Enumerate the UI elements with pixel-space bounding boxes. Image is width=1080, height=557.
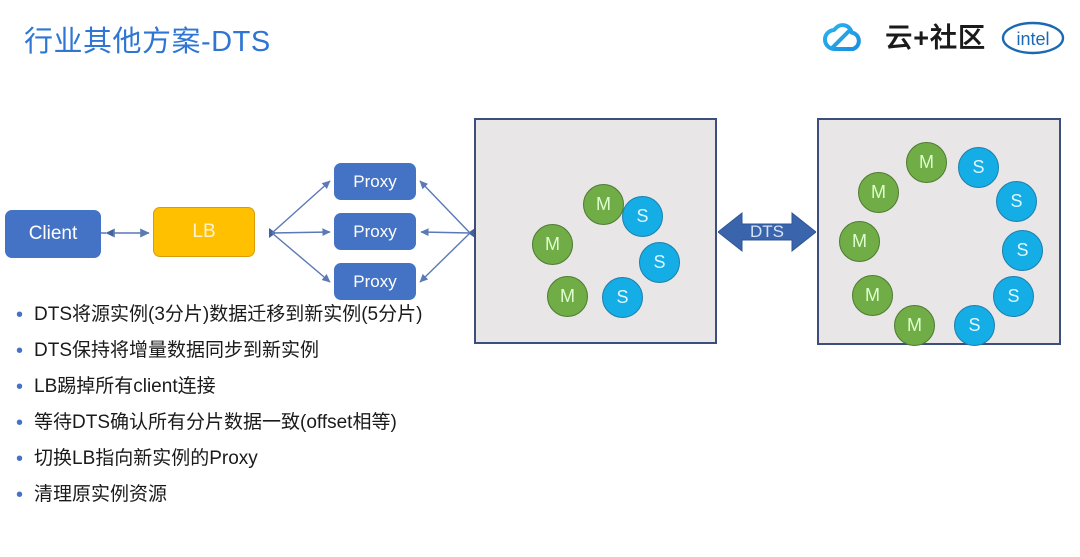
brand-row: 云+社区 intel (819, 18, 1066, 58)
client-node[interactable]: Client (5, 210, 101, 258)
bullet-marker-icon: • (12, 372, 34, 402)
list-item: •切换LB指向新实例的Proxy (12, 444, 482, 480)
bullet-text: 等待DTS确认所有分片数据一致(offset相等) (34, 408, 397, 438)
intel-logo-icon: intel (1000, 18, 1066, 58)
proxy-node-2[interactable]: Proxy (334, 213, 416, 250)
shard-master: M (894, 305, 935, 346)
shard-slave: S (1002, 230, 1043, 271)
shard-slave: S (958, 147, 999, 188)
shard-slave: S (602, 277, 643, 318)
bullet-text: 清理原实例资源 (34, 480, 167, 510)
shard-slave: S (996, 181, 1037, 222)
list-item: •DTS保持将增量数据同步到新实例 (12, 336, 482, 372)
shard-slave: S (622, 196, 663, 237)
bullet-marker-icon: • (12, 336, 34, 366)
list-item: •LB踢掉所有client连接 (12, 372, 482, 408)
shard-master: M (547, 276, 588, 317)
bullet-marker-icon: • (12, 480, 34, 510)
proxy-node-1[interactable]: Proxy (334, 163, 416, 200)
proxy-node-3[interactable]: Proxy (334, 263, 416, 300)
bullet-text: DTS将源实例(3分片)数据迁移到新实例(5分片) (34, 300, 422, 330)
list-item: •等待DTS确认所有分片数据一致(offset相等) (12, 408, 482, 444)
source-cluster-box: MMMSSS (474, 118, 717, 344)
svg-text:intel: intel (1016, 29, 1049, 49)
shard-master: M (532, 224, 573, 265)
shard-slave: S (993, 276, 1034, 317)
bullet-list: •DTS将源实例(3分片)数据迁移到新实例(5分片)•DTS保持将增量数据同步到… (12, 300, 482, 516)
bullet-text: 切换LB指向新实例的Proxy (34, 444, 258, 474)
list-item: •清理原实例资源 (12, 480, 482, 516)
bullet-marker-icon: • (12, 444, 34, 474)
shard-slave: S (639, 242, 680, 283)
shard-master: M (906, 142, 947, 183)
bullet-marker-icon: • (12, 408, 34, 438)
cloud-icon (819, 18, 871, 58)
bullet-text: DTS保持将增量数据同步到新实例 (34, 336, 319, 366)
bullet-text: LB踢掉所有client连接 (34, 372, 216, 402)
shard-master: M (852, 275, 893, 316)
bullet-marker-icon: • (12, 300, 34, 330)
brand-label: 云+社区 (885, 25, 986, 52)
lb-node[interactable]: LB (153, 207, 255, 257)
shard-master: M (839, 221, 880, 262)
list-item: •DTS将源实例(3分片)数据迁移到新实例(5分片) (12, 300, 482, 336)
page-title: 行业其他方案-DTS (24, 18, 271, 60)
slide-canvas: 行业其他方案-DTS 云+社区 intel (0, 0, 1080, 557)
shard-master: M (858, 172, 899, 213)
new-cluster-box: MMMMMSSSSS (817, 118, 1061, 345)
dts-arrow-icon (718, 209, 816, 255)
shard-master: M (583, 184, 624, 225)
shard-slave: S (954, 305, 995, 346)
